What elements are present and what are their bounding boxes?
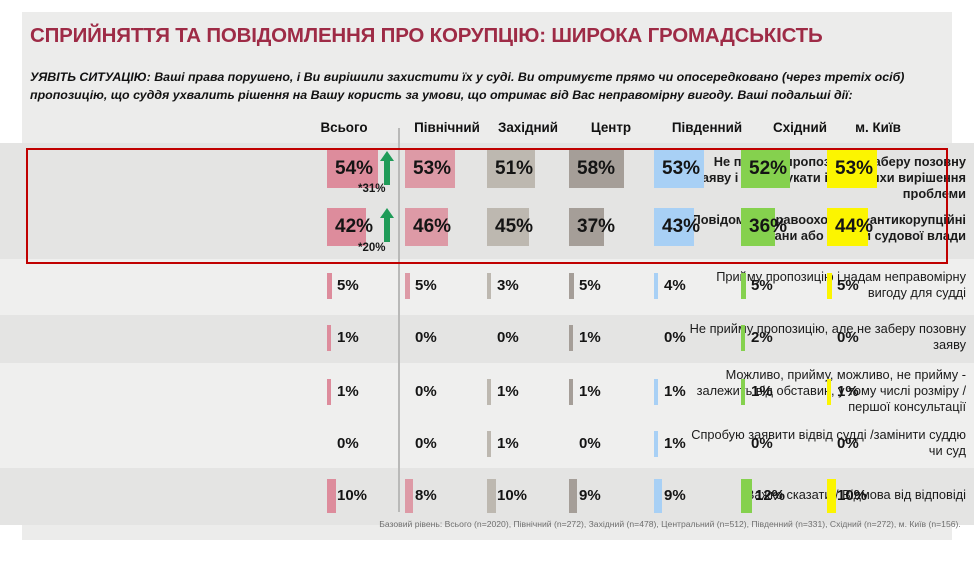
- cell-center: 9%: [569, 468, 649, 525]
- cell-center: 5%: [569, 259, 649, 315]
- value-label-east: 0%: [751, 435, 773, 452]
- value-label-south: 1%: [664, 383, 686, 400]
- value-label-west: 3%: [497, 277, 519, 294]
- cell-total: 0%: [327, 422, 407, 468]
- cell-east: 2%: [741, 315, 821, 363]
- value-bar-center: [569, 325, 573, 351]
- table-row: Важко сказати / Відмова від відповіді10%…: [0, 468, 974, 525]
- cell-south: 4%: [654, 259, 734, 315]
- cell-north: 46%: [405, 200, 485, 259]
- value-bar-kyiv: [827, 479, 836, 513]
- value-bar-west: [487, 431, 491, 457]
- value-bar-north: [405, 479, 413, 513]
- table-row: Можливо, прийму, можливо, не прийму - за…: [0, 363, 974, 422]
- cell-east: 5%: [741, 259, 821, 315]
- value-bar-south: [654, 479, 662, 513]
- value-label-north: 8%: [415, 487, 437, 504]
- value-label-total: 1%: [337, 329, 359, 346]
- cell-kyiv: 5%: [827, 259, 907, 315]
- cell-east: 52%: [741, 143, 821, 200]
- value-label-center: 58%: [577, 158, 615, 180]
- cell-north: 0%: [405, 315, 485, 363]
- value-bar-east: [741, 379, 745, 405]
- value-label-kyiv: 10%: [837, 487, 867, 504]
- column-header-center: Центр: [591, 120, 631, 135]
- cell-total: 5%: [327, 259, 407, 315]
- cell-west: 0%: [487, 315, 567, 363]
- footnote-base-sizes: Базовий рівень: Всього (n=2020), Північн…: [370, 518, 970, 530]
- column-header-north: Північний: [414, 120, 480, 135]
- cell-kyiv: 44%: [827, 200, 907, 259]
- value-label-total: 54%: [335, 158, 373, 180]
- value-bar-total: [327, 273, 332, 299]
- cell-west: 45%: [487, 200, 567, 259]
- value-bar-total: [327, 325, 331, 351]
- value-label-center: 0%: [579, 435, 601, 452]
- table-row: Прийму пропозицію і надам неправомірну в…: [0, 259, 974, 315]
- delta-value: *20%: [358, 242, 386, 254]
- cell-kyiv: 1%: [827, 363, 907, 422]
- value-label-kyiv: 0%: [837, 329, 859, 346]
- cell-north: 8%: [405, 468, 485, 525]
- column-header-total: Всього: [320, 120, 367, 135]
- value-label-kyiv: 0%: [837, 435, 859, 452]
- value-label-center: 1%: [579, 383, 601, 400]
- cell-south: 1%: [654, 363, 734, 422]
- value-label-east: 12%: [755, 487, 785, 504]
- table-row: Спробую заявити відвід судді /замінити с…: [0, 422, 974, 468]
- value-label-total: 1%: [337, 383, 359, 400]
- value-label-kyiv: 44%: [835, 216, 873, 238]
- cell-kyiv: 10%: [827, 468, 907, 525]
- cell-south: 53%: [654, 143, 734, 200]
- cell-center: 1%: [569, 363, 649, 422]
- cell-total: 1%: [327, 363, 407, 422]
- value-label-west: 0%: [497, 329, 519, 346]
- table-row: Повідомлю правоохоронні, антикорупційні …: [0, 200, 974, 259]
- cell-east: 1%: [741, 363, 821, 422]
- value-label-total: 10%: [337, 487, 367, 504]
- cell-north: 0%: [405, 422, 485, 468]
- value-bar-south: [654, 379, 658, 405]
- value-bar-total: [327, 479, 336, 513]
- value-label-west: 10%: [497, 487, 527, 504]
- value-label-kyiv: 1%: [837, 383, 859, 400]
- value-label-total: 5%: [337, 277, 359, 294]
- value-label-south: 9%: [664, 487, 686, 504]
- value-bar-east: [741, 325, 745, 351]
- value-label-west: 45%: [495, 216, 533, 238]
- value-label-north: 0%: [415, 383, 437, 400]
- cell-kyiv: 0%: [827, 422, 907, 468]
- table-row: Не прийму пропозицію, заберу позовну зая…: [0, 143, 974, 200]
- column-header-kyiv: м. Київ: [855, 120, 901, 135]
- value-bar-total: [327, 379, 331, 405]
- cell-south: 9%: [654, 468, 734, 525]
- value-bar-west: [487, 479, 496, 513]
- page-title: СПРИЙНЯТТЯ ТА ПОВІДОМЛЕННЯ ПРО КОРУПЦІЮ:…: [30, 24, 930, 48]
- value-label-north: 46%: [413, 216, 451, 238]
- value-bar-east: [741, 273, 746, 299]
- value-bar-south: [654, 273, 658, 299]
- value-label-center: 9%: [579, 487, 601, 504]
- value-label-south: 0%: [664, 329, 686, 346]
- value-label-east: 52%: [749, 158, 787, 180]
- cell-north: 53%: [405, 143, 485, 200]
- cell-north: 5%: [405, 259, 485, 315]
- slide-root: СПРИЙНЯТТЯ ТА ПОВІДОМЛЕННЯ ПРО КОРУПЦІЮ:…: [0, 0, 974, 565]
- value-label-west: 1%: [497, 435, 519, 452]
- cell-east: 36%: [741, 200, 821, 259]
- value-label-kyiv: 5%: [837, 277, 859, 294]
- value-label-north: 53%: [413, 158, 451, 180]
- value-bar-center: [569, 273, 574, 299]
- cell-south: 43%: [654, 200, 734, 259]
- cell-kyiv: 0%: [827, 315, 907, 363]
- value-label-north: 5%: [415, 277, 437, 294]
- cell-total: 10%: [327, 468, 407, 525]
- cell-west: 3%: [487, 259, 567, 315]
- cell-total: 1%: [327, 315, 407, 363]
- total-column-divider: [398, 128, 400, 512]
- value-label-total: 0%: [337, 435, 359, 452]
- results-table: Не прийму пропозицію, заберу позовну зая…: [0, 143, 974, 525]
- column-header-west: Західний: [498, 120, 558, 135]
- value-bar-east: [741, 479, 752, 513]
- cell-east: 0%: [741, 422, 821, 468]
- column-headers: ВсьогоПівнічнийЗахіднийЦентрПівденнийСхі…: [0, 120, 974, 142]
- trend-up-arrow: [380, 208, 394, 242]
- value-bar-south: [654, 431, 658, 457]
- cell-west: 1%: [487, 422, 567, 468]
- value-bar-kyiv: [827, 379, 831, 405]
- value-label-east: 5%: [751, 277, 773, 294]
- cell-south: 0%: [654, 315, 734, 363]
- column-header-east: Східний: [773, 120, 827, 135]
- value-label-north: 0%: [415, 435, 437, 452]
- cell-center: 58%: [569, 143, 649, 200]
- value-label-south: 43%: [662, 216, 700, 238]
- value-label-center: 5%: [579, 277, 601, 294]
- value-label-west: 51%: [495, 158, 533, 180]
- delta-value: *31%: [358, 183, 386, 195]
- table-row: Не прийму пропозицію, але не заберу позо…: [0, 315, 974, 363]
- value-bar-kyiv: [827, 273, 832, 299]
- value-label-south: 1%: [664, 435, 686, 452]
- value-label-center: 37%: [577, 216, 615, 238]
- value-label-east: 1%: [751, 383, 773, 400]
- value-label-kyiv: 53%: [835, 158, 873, 180]
- cell-center: 1%: [569, 315, 649, 363]
- value-label-center: 1%: [579, 329, 601, 346]
- value-label-east: 36%: [749, 216, 787, 238]
- value-label-north: 0%: [415, 329, 437, 346]
- question-text: УЯВІТЬ СИТУАЦІЮ: Ваші права порушено, і …: [30, 68, 950, 104]
- value-label-west: 1%: [497, 383, 519, 400]
- cell-north: 0%: [405, 363, 485, 422]
- cell-center: 37%: [569, 200, 649, 259]
- value-bar-north: [405, 273, 410, 299]
- trend-up-arrow: [380, 151, 394, 185]
- cell-west: 1%: [487, 363, 567, 422]
- value-label-east: 2%: [751, 329, 773, 346]
- value-bar-center: [569, 479, 577, 513]
- cell-west: 10%: [487, 468, 567, 525]
- value-label-total: 42%: [335, 216, 373, 238]
- cell-east: 12%: [741, 468, 821, 525]
- value-label-south: 4%: [664, 277, 686, 294]
- cell-west: 51%: [487, 143, 567, 200]
- value-bar-west: [487, 379, 491, 405]
- cell-center: 0%: [569, 422, 649, 468]
- value-label-south: 53%: [662, 158, 700, 180]
- cell-kyiv: 53%: [827, 143, 907, 200]
- column-header-south: Південний: [672, 120, 742, 135]
- cell-south: 1%: [654, 422, 734, 468]
- value-bar-center: [569, 379, 573, 405]
- value-bar-west: [487, 273, 491, 299]
